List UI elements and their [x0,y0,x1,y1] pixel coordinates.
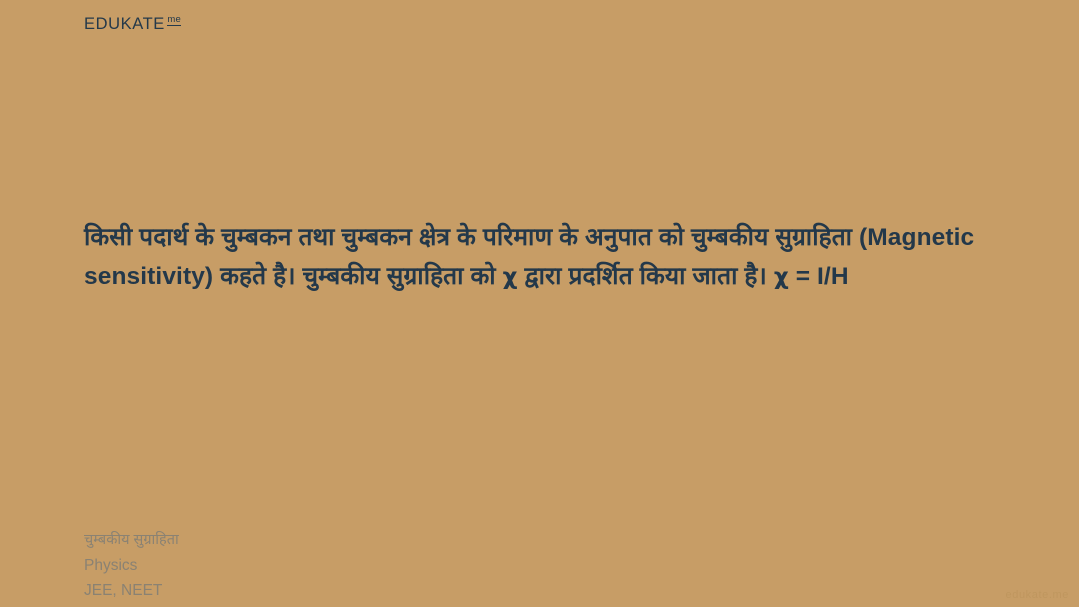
chi-symbol-inline: χ [503,264,518,290]
chi-symbol-formula: χ [774,264,789,290]
footer-subject: Physics [84,553,179,578]
brand-suffix: me [167,15,181,26]
slide-body-text: किसी पदार्थ के चुम्बकन तथा चुम्बकन क्षेत… [84,218,1004,297]
body-line-1: किसी पदार्थ के चुम्बकन तथा चुम्बकन क्षेत… [84,224,768,251]
body-line-3-prefix: प्रदर्शित किया जाता है। [568,263,773,290]
body-line-2-suffix: द्वारा [518,263,562,290]
body-line-2-prefix: सुग्राहिता [775,224,859,251]
brand-name: EDUKATE [84,16,165,33]
body-line-2-mid: कहते है। चुम्बकीय सुग्राहिता को [213,263,502,290]
brand-logo[interactable]: EDUKATE me [84,16,181,33]
footer-exams: JEE, NEET [84,578,179,603]
footer-topic: चुम्बकीय सुग्राहिता [84,528,179,553]
footer-meta: चुम्बकीय सुग्राहिता Physics JEE, NEET [84,528,179,603]
slide-canvas: EDUKATE me किसी पदार्थ के चुम्बकन तथा चु… [0,0,1079,607]
formula-expression: = I/H [789,263,849,290]
corner-watermark: edukate.me [1006,589,1069,601]
